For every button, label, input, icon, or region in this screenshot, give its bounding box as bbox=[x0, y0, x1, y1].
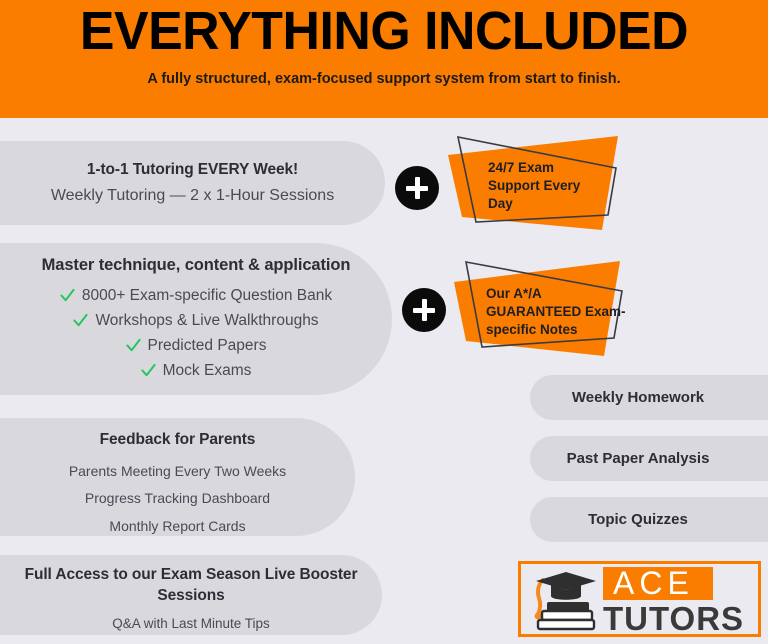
pill-weekly-homework: Weekly Homework bbox=[530, 375, 768, 420]
card-feedback-for-parents: Feedback for Parents Parents Meeting Eve… bbox=[0, 418, 355, 536]
page-title: EVERYTHING INCLUDED bbox=[15, 0, 752, 58]
card-master-title: Master technique, content & application bbox=[42, 256, 351, 275]
plus-icon bbox=[402, 288, 446, 332]
logo-artwork: ACE TUTORS bbox=[521, 564, 758, 634]
pill-label: Weekly Homework bbox=[572, 389, 704, 406]
check-icon bbox=[126, 338, 141, 353]
list-item-label: Mock Exams bbox=[163, 358, 252, 383]
logo-ace-text: ACE bbox=[613, 565, 694, 601]
pill-label: Past Paper Analysis bbox=[567, 450, 710, 467]
header-banner: EVERYTHING INCLUDED A fully structured, … bbox=[0, 0, 768, 118]
list-item-label: 8000+ Exam-specific Question Bank bbox=[82, 283, 332, 308]
list-item: Parents Meeting Every Two Weeks bbox=[69, 458, 286, 485]
pill-label: Topic Quizzes bbox=[588, 511, 688, 528]
plus-icon bbox=[395, 166, 439, 210]
card-booster-title: Full Access to our Exam Season Live Boos… bbox=[0, 565, 382, 607]
graduation-cap-books-icon bbox=[535, 572, 596, 629]
list-item: Predicted Papers bbox=[0, 333, 392, 358]
card-feedback-title: Feedback for Parents bbox=[100, 431, 256, 449]
pill-past-paper-analysis: Past Paper Analysis bbox=[530, 436, 768, 481]
feedback-list: Parents Meeting Every Two Weeks Progress… bbox=[69, 458, 286, 540]
card-tutoring-subtitle: Weekly Tutoring — 2 x 1-Hour Sessions bbox=[51, 187, 334, 205]
master-feature-list: 8000+ Exam-specific Question Bank Worksh… bbox=[0, 283, 392, 383]
card-booster-sessions: Full Access to our Exam Season Live Boos… bbox=[0, 555, 382, 635]
page-subtitle: A fully structured, exam-focused support… bbox=[0, 69, 768, 90]
list-item: Progress Tracking Dashboard bbox=[69, 485, 286, 512]
card-tutoring-title: 1-to-1 Tutoring EVERY Week! bbox=[87, 161, 298, 179]
list-item-label: Predicted Papers bbox=[148, 333, 267, 358]
list-item-label: Workshops & Live Walkthroughs bbox=[95, 308, 318, 333]
list-item: 8000+ Exam-specific Question Bank bbox=[0, 283, 392, 308]
logo-ace-tutors: ACE TUTORS bbox=[518, 561, 761, 637]
list-item: Workshops & Live Walkthroughs bbox=[0, 308, 392, 333]
card-booster-subtitle: Q&A with Last Minute Tips bbox=[112, 616, 270, 631]
list-item: Monthly Report Cards bbox=[69, 513, 286, 540]
check-icon bbox=[73, 313, 88, 328]
logo-tutors-text: TUTORS bbox=[603, 600, 744, 634]
callout-exam-support-text: 24/7 Exam Support Every Day bbox=[488, 159, 580, 212]
list-item: Mock Exams bbox=[0, 358, 392, 383]
callout-exam-support: 24/7 Exam Support Every Day bbox=[440, 133, 640, 241]
callout-guaranteed-notes: Our A*/A GUARANTEED Exam- specific Notes bbox=[448, 258, 648, 366]
card-tutoring: 1-to-1 Tutoring EVERY Week! Weekly Tutor… bbox=[0, 141, 385, 225]
pill-topic-quizzes: Topic Quizzes bbox=[530, 497, 768, 542]
callout-guaranteed-notes-text: Our A*/A GUARANTEED Exam- specific Notes bbox=[486, 285, 626, 338]
check-icon bbox=[60, 288, 75, 303]
card-master-technique: Master technique, content & application … bbox=[0, 243, 392, 395]
check-icon bbox=[141, 363, 156, 378]
